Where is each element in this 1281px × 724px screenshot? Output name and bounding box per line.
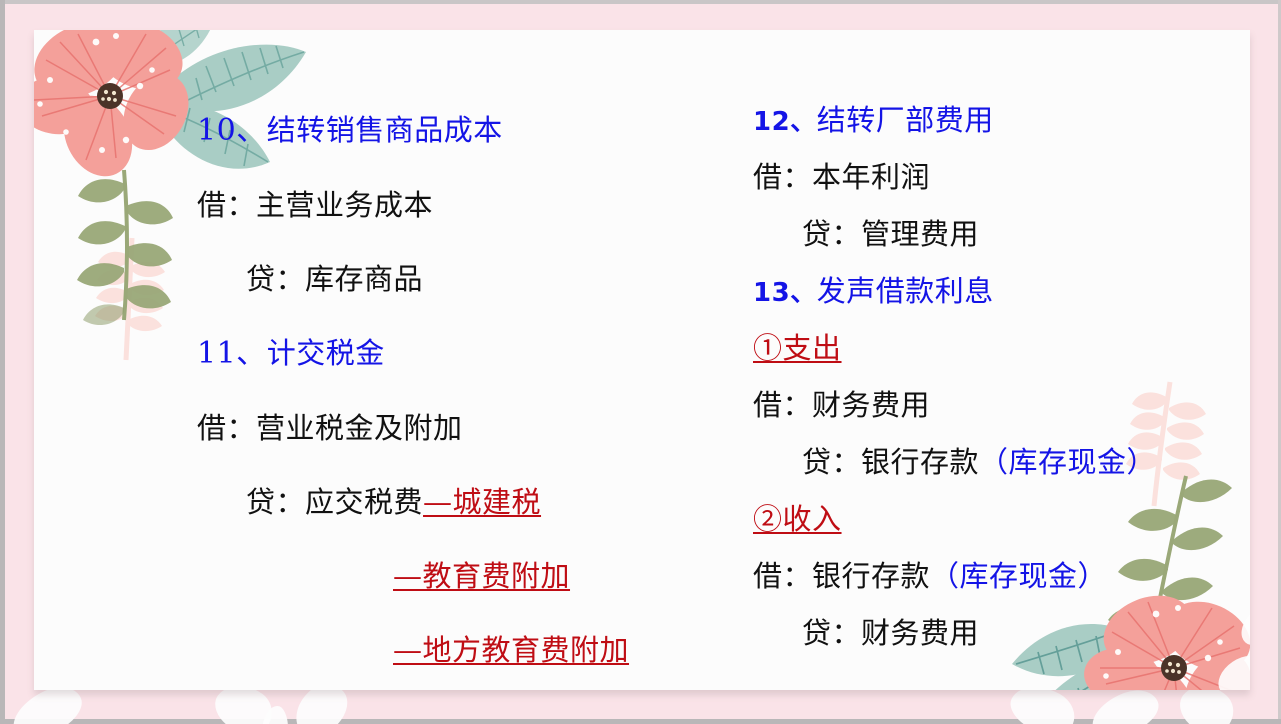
entry-13-sub-1-debit: 借：财务费用 [753,391,1156,420]
petal-shape [1085,684,1164,724]
entry-10-title: 10、结转销售商品成本 [197,116,629,146]
slide-card: 10、结转销售商品成本 借：主营业务成本 贷：库存商品 11、计交税金 借：营业… [34,30,1250,690]
slide-canvas: 10、结转销售商品成本 借：主营业务成本 贷：库存商品 11、计交税金 借：营业… [0,0,1281,724]
petal-shape [285,684,358,724]
entry-13-number: 13、 [753,278,817,308]
entry-13-sub-1-credit: 贷：银行存款（库存现金） [753,448,1156,477]
entry-10-credit: 贷：库存商品 [197,265,629,294]
entry-11-credit-sub-3-row: —地方教育费附加 [197,636,629,665]
petal-shape [5,684,90,724]
entry-11-number: 11、 [197,336,267,371]
entry-11-credit-sub-3: —地方教育费附加 [393,633,629,667]
entry-11-title: 11、计交税金 [197,339,629,369]
entry-12-title-text: 结转厂部费用 [817,103,994,137]
entry-13-sub-2-debit-prefix: 借：银行存款 [753,559,930,593]
entry-13-sub-1-marker: ①支出 [753,331,842,365]
entry-11-credit: 贷：应交税费—城建税 [197,488,629,517]
entry-13-title: 13、发声借款利息 [753,277,1156,306]
entry-13-sub-2-marker-row: ②收入 [753,505,1156,534]
entry-13-sub-2-debit-paren: （库存现金） [930,559,1107,593]
entry-11-title-text: 计交税金 [267,336,385,370]
entry-12-number: 12、 [753,107,817,137]
entry-11-debit: 借：营业税金及附加 [197,414,629,443]
entry-12-credit: 贷：管理费用 [753,220,1156,249]
petal-shape [1004,684,1083,724]
petal-shape [1172,684,1243,724]
entry-13-sub-1-credit-paren: （库存现金） [979,445,1156,479]
entry-13-sub-1-credit-prefix: 贷：银行存款 [802,445,979,479]
entry-13-sub-2-marker: ②收入 [753,502,842,536]
bottom-band-decoration [0,684,1281,724]
entry-11-credit-sub-1: —城建税 [423,485,541,519]
entry-11-credit-prefix: 贷：应交税费 [246,485,423,519]
entry-13-sub-2-credit: 贷：财务费用 [753,619,1156,648]
right-text-column: 12、结转厂部费用 借：本年利润 贷：管理费用 13、发声借款利息 ①支出 借：… [753,106,1156,676]
entry-10-debit: 借：主营业务成本 [197,191,629,220]
entry-10-title-text: 结转销售商品成本 [267,113,503,147]
frame-edge-left [0,0,5,724]
entry-13-sub-1-marker-row: ①支出 [753,334,1156,363]
entry-11-credit-sub-2-row: —教育费附加 [197,562,629,591]
frame-edge-top [0,0,1281,4]
entry-13-sub-2-debit: 借：银行存款（库存现金） [753,562,1156,591]
entry-10-number: 10、 [197,113,267,148]
entry-11-credit-sub-2: —教育费附加 [393,559,570,593]
entry-13-title-text: 发声借款利息 [817,274,994,308]
entry-12-debit: 借：本年利润 [753,163,1156,192]
left-text-column: 10、结转销售商品成本 借：主营业务成本 贷：库存商品 11、计交税金 借：营业… [197,116,629,690]
entry-12-title: 12、结转厂部费用 [753,106,1156,135]
